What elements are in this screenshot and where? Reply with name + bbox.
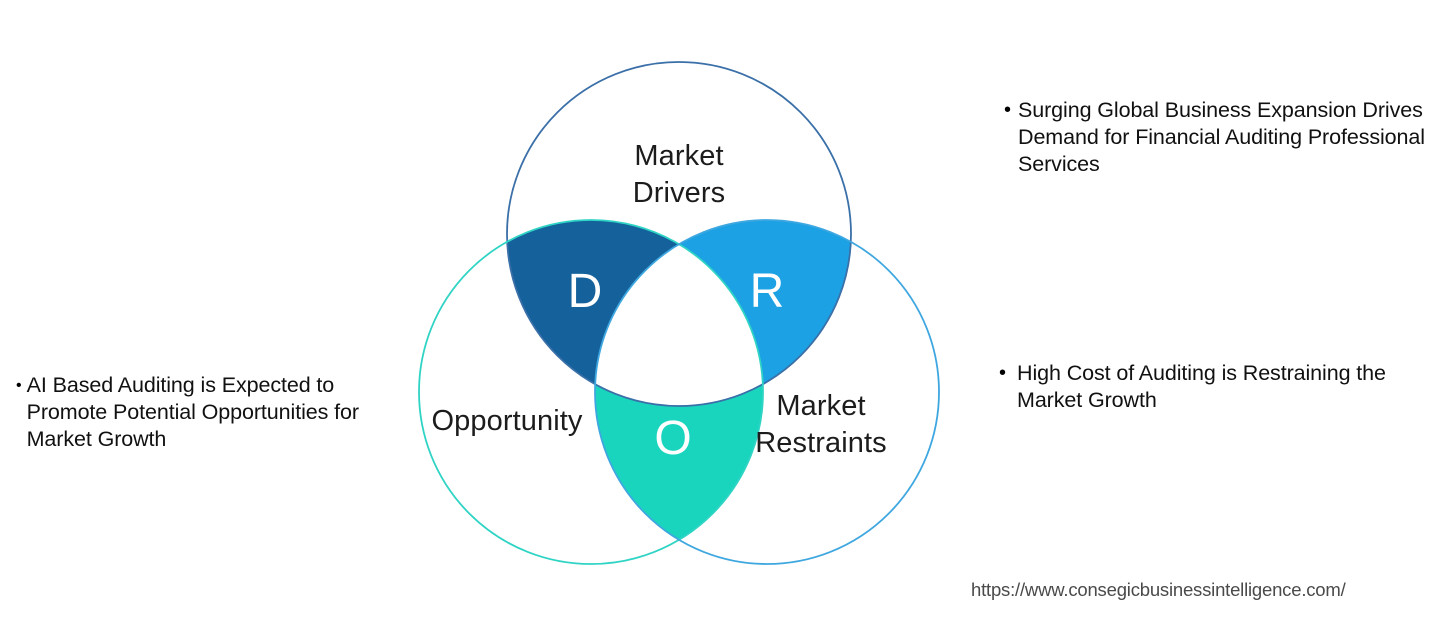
bullet-point-icon: •: [999, 360, 1006, 387]
venn-circles-svg: [0, 0, 1453, 633]
lens-letter-o: O: [643, 415, 703, 463]
circle-label-market-drivers: Market Drivers: [549, 138, 809, 212]
venn-diagram: Market Drivers Opportunity Market Restra…: [0, 0, 1453, 633]
circle-label-market-restraints: Market Restraints: [711, 388, 931, 462]
bullet-point-icon: •: [16, 372, 22, 399]
callout-opportunity-text: AI Based Auditing is Expected to Promote…: [27, 372, 361, 453]
callout-market-restraint-text: High Cost of Auditing is Restraining the…: [1017, 360, 1429, 414]
callout-opportunity: • AI Based Auditing is Expected to Promo…: [16, 372, 361, 453]
callout-market-driver: • Surging Global Business Expansion Driv…: [1004, 97, 1434, 178]
bullet-point-icon: •: [1004, 97, 1011, 124]
callout-market-driver-text: Surging Global Business Expansion Drives…: [1018, 97, 1434, 178]
lens-letter-d: D: [555, 268, 615, 316]
source-url[interactable]: https://www.consegicbusinessintelligence…: [971, 578, 1346, 602]
lens-letter-r: R: [737, 268, 797, 316]
callout-market-restraint: • High Cost of Auditing is Restraining t…: [999, 360, 1429, 414]
circle-label-opportunity: Opportunity: [397, 403, 617, 440]
